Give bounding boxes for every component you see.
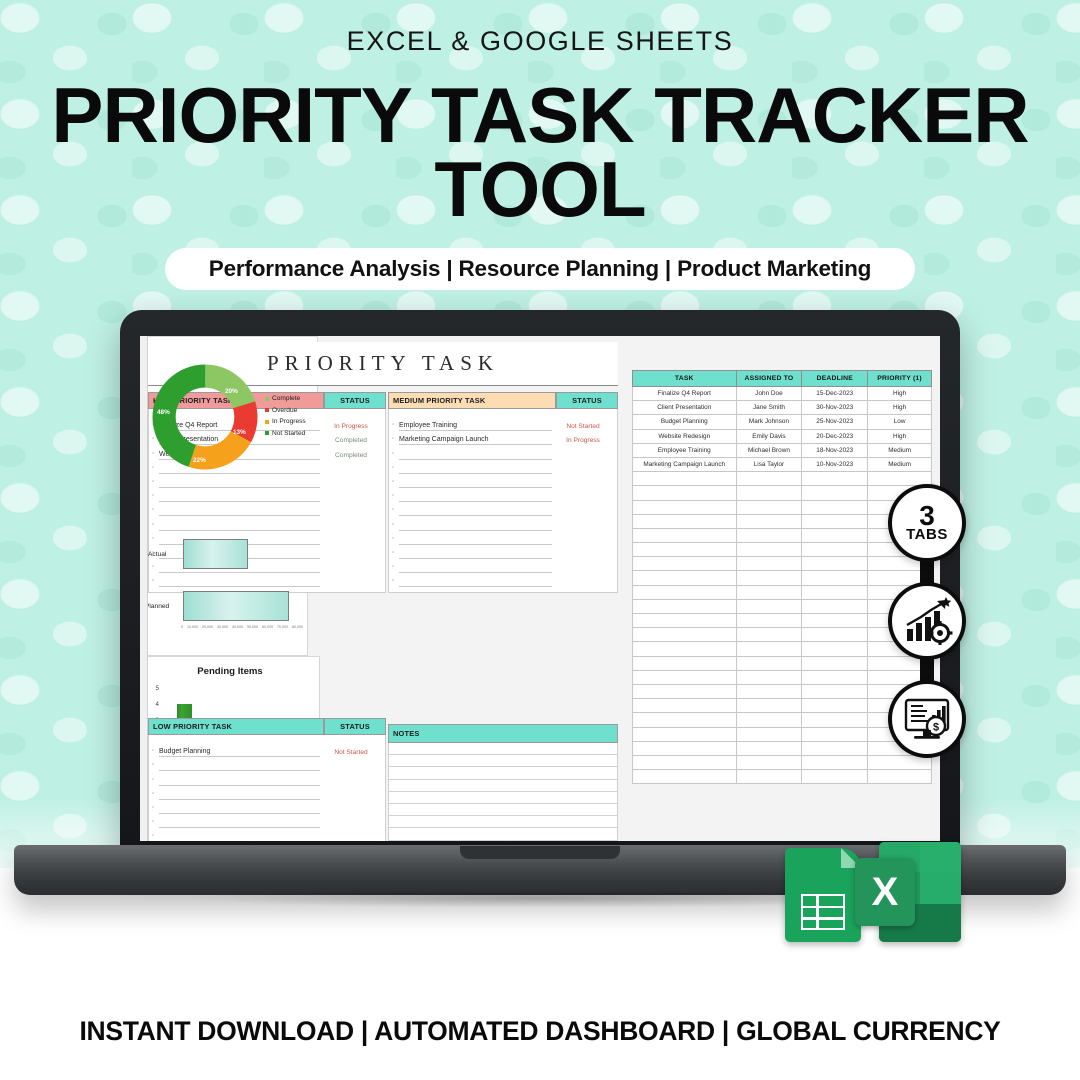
column-header-deadline[interactable]: DEADLINE: [802, 371, 868, 387]
bullet-icon: ▫: [392, 448, 399, 460]
cell-task: Finalize Q4 Report: [633, 387, 737, 401]
subtitle-text: Performance Analysis | Resource Planning…: [209, 256, 871, 282]
table-row[interactable]: [633, 770, 932, 784]
task-status: In Progress: [552, 437, 614, 445]
badge-monitor-dollar: $: [888, 680, 966, 758]
bullet-icon: ▫: [152, 504, 159, 516]
cell-priority: Medium: [868, 457, 932, 471]
table-row[interactable]: [633, 741, 932, 755]
table-row[interactable]: Website RedesignEmily Davis20-Dec-2023Hi…: [633, 429, 932, 443]
column-header-priority[interactable]: PRIORITY (1): [868, 371, 932, 387]
task-name: Budget Planning: [159, 748, 320, 757]
list-item[interactable]: ▫Employee TrainingNot Started: [389, 417, 617, 431]
cell-deadline: 20-Dec-2023: [802, 429, 868, 443]
bar-category-label: Planned: [145, 603, 169, 610]
table-row[interactable]: [633, 543, 932, 557]
list-item[interactable]: ▫: [389, 516, 617, 530]
footer-features: INSTANT DOWNLOAD | AUTOMATED DASHBOARD |…: [0, 1016, 1080, 1047]
table-header-row: TASK ASSIGNED TO DEADLINE PRIORITY (1): [633, 371, 932, 387]
donut-value-label: 13%: [233, 429, 246, 436]
medium-priority-status-header: STATUS: [556, 392, 618, 409]
table-row[interactable]: [633, 614, 932, 628]
table-row[interactable]: [633, 628, 932, 642]
list-item[interactable]: ▫: [389, 445, 617, 459]
subtitle-pill: Performance Analysis | Resource Planning…: [165, 248, 915, 290]
task-status: In Progress: [320, 423, 382, 431]
task-name: Marketing Campaign Launch: [399, 436, 552, 445]
table[interactable]: TASK ASSIGNED TO DEADLINE PRIORITY (1) F…: [632, 370, 932, 784]
legend-label: Not Started: [272, 428, 305, 440]
task-data-table[interactable]: TASK ASSIGNED TO DEADLINE PRIORITY (1) F…: [632, 370, 932, 784]
table-row[interactable]: [633, 670, 932, 684]
low-priority-header-row: LOW PRIORITY TASK STATUS: [148, 718, 386, 735]
bullet-icon: ▫: [152, 759, 159, 771]
list-item[interactable]: ▫Budget PlanningNot Started: [149, 743, 385, 757]
bullet-icon: ▫: [152, 802, 159, 814]
low-priority-block: LOW PRIORITY TASK STATUS ▫Budget Plannin…: [148, 718, 386, 841]
list-item[interactable]: ▫: [149, 814, 385, 828]
growth-chart-gear-icon: [901, 595, 953, 647]
low-priority-task-list[interactable]: ▫Budget PlanningNot Started ▫ ▫ ▫ ▫ ▫ ▫ …: [148, 735, 386, 841]
cell-deadline: 18-Nov-2023: [802, 443, 868, 457]
bar-planned: [183, 591, 289, 621]
bullet-icon: ▫: [392, 504, 399, 516]
legend-label: Overdue: [272, 405, 297, 417]
column-header-task[interactable]: TASK: [633, 371, 737, 387]
legend-item: In Progress: [265, 416, 306, 428]
list-item[interactable]: ▫: [389, 502, 617, 516]
table-row[interactable]: [633, 656, 932, 670]
chart-title: Pending Items: [141, 666, 319, 677]
donut-value-label: 48%: [157, 409, 170, 416]
file-format-logos: X: [785, 842, 985, 942]
cell-task: Marketing Campaign Launch: [633, 457, 737, 471]
list-item[interactable]: ▫Marketing Campaign LaunchIn Progress: [389, 431, 617, 445]
legend-swatch: [265, 408, 269, 412]
budget-chart: Budget Actual Planned 0 10,000 20,000 30…: [140, 496, 308, 656]
bullet-icon: ▫: [152, 476, 159, 488]
bullet-icon: ▫: [392, 561, 399, 573]
list-item[interactable]: ▫: [389, 545, 617, 559]
table-row[interactable]: [633, 500, 932, 514]
table-row[interactable]: [633, 713, 932, 727]
cell-assignee: Mark Johnson: [736, 415, 802, 429]
notes-header: NOTES: [388, 724, 618, 743]
cell-assignee: Jane Smith: [736, 401, 802, 415]
bullet-icon: ▫: [152, 490, 159, 502]
table-row[interactable]: Employee TrainingMichael Brown18-Nov-202…: [633, 443, 932, 457]
svg-text:$: $: [933, 722, 939, 734]
table-row[interactable]: Client PresentationJane Smith30-Nov-2023…: [633, 401, 932, 415]
column-header-assigned-to[interactable]: ASSIGNED TO: [736, 371, 802, 387]
notes-line[interactable]: [389, 755, 617, 767]
monitor-dollar-icon: $: [901, 693, 953, 745]
bar-actual: [183, 539, 248, 569]
table-row[interactable]: [633, 472, 932, 486]
high-priority-status-header: STATUS: [324, 392, 386, 409]
chart-legend: Complete Overdue In Progress Not Started: [265, 393, 306, 439]
task-status: Not Started: [552, 423, 614, 431]
row-gutter: [140, 336, 148, 841]
laptop-notch: [460, 846, 620, 859]
list-item[interactable]: ▫: [149, 488, 385, 502]
list-item[interactable]: ▫: [389, 488, 617, 502]
cell-deadline: 25-Nov-2023: [802, 415, 868, 429]
bullet-icon: ▫: [392, 490, 399, 502]
notes-line[interactable]: [389, 792, 617, 804]
eyebrow-text: EXCEL & GOOGLE SHEETS: [0, 26, 1080, 57]
notes-block: NOTES: [388, 724, 618, 841]
cell-assignee: Michael Brown: [736, 443, 802, 457]
list-item[interactable]: ▫: [149, 828, 385, 841]
table-row[interactable]: [633, 699, 932, 713]
bullet-icon: ▫: [392, 575, 399, 587]
medium-priority-block: MEDIUM PRIORITY TASK STATUS ▫Employee Tr…: [388, 392, 618, 593]
table-row[interactable]: [633, 514, 932, 528]
excel-x-tile: X: [855, 858, 915, 926]
list-item[interactable]: ▫: [389, 573, 617, 587]
list-item[interactable]: ▫: [149, 800, 385, 814]
cell-priority: High: [868, 429, 932, 443]
table-row[interactable]: [633, 642, 932, 656]
task-status: Completed: [320, 452, 382, 460]
bullet-icon: ▫: [152, 774, 159, 786]
badge-number: 3: [906, 504, 948, 528]
table-row[interactable]: [633, 557, 932, 571]
list-item[interactable]: ▫: [389, 531, 617, 545]
low-priority-header: LOW PRIORITY TASK: [148, 718, 324, 735]
table-row[interactable]: [633, 528, 932, 542]
bullet-icon: ▫: [392, 462, 399, 474]
list-item[interactable]: ▫: [149, 771, 385, 785]
table-row[interactable]: Finalize Q4 ReportJohn Doe15-Dec-2023Hig…: [633, 387, 932, 401]
donut-svg: [151, 363, 259, 471]
list-item[interactable]: ▫: [149, 757, 385, 771]
table-row[interactable]: [633, 486, 932, 500]
overall-task-status-chart: Overall Task Status 20% 13% 22% 48% Comp…: [140, 336, 318, 496]
cell-priority: High: [868, 401, 932, 415]
table-row[interactable]: [633, 727, 932, 741]
bullet-icon: ▫: [392, 519, 399, 531]
medium-priority-header-row: MEDIUM PRIORITY TASK STATUS: [388, 392, 618, 409]
cell-priority: Medium: [868, 443, 932, 457]
table-row[interactable]: [633, 585, 932, 599]
bullet-icon: ▫: [152, 745, 159, 757]
notes-line[interactable]: [389, 828, 617, 840]
notes-line[interactable]: [389, 767, 617, 779]
badge-growth-chart: [888, 582, 966, 660]
list-item[interactable]: ▫: [389, 460, 617, 474]
table-row[interactable]: [633, 599, 932, 613]
task-status: Completed: [320, 437, 382, 445]
legend-item: Overdue: [265, 405, 306, 417]
low-priority-status-header: STATUS: [324, 718, 386, 735]
bullet-icon: ▫: [392, 476, 399, 488]
legend-swatch: [265, 420, 269, 424]
budget-x-axis: 0 10,000 20,000 30,000 40,000 50,000 60,…: [181, 625, 303, 629]
cell-assignee: John Doe: [736, 387, 802, 401]
bullet-icon: ▫: [392, 433, 399, 445]
cell-deadline: 15-Dec-2023: [802, 387, 868, 401]
bullet-icon: ▫: [392, 533, 399, 545]
medium-priority-task-list[interactable]: ▫Employee TrainingNot Started ▫Marketing…: [388, 409, 618, 593]
legend-swatch: [265, 397, 269, 401]
cell-assignee: Emily Davis: [736, 429, 802, 443]
donut-value-label: 20%: [225, 388, 238, 395]
bullet-icon: ▫: [152, 830, 159, 841]
task-name: Employee Training: [399, 422, 552, 431]
notes-line[interactable]: [389, 804, 617, 816]
legend-swatch: [265, 431, 269, 435]
table-row[interactable]: [633, 571, 932, 585]
bullet-icon: ▫: [392, 419, 399, 431]
cell-task: Budget Planning: [633, 415, 737, 429]
cell-priority: Low: [868, 415, 932, 429]
cell-assignee: Lisa Taylor: [736, 457, 802, 471]
table-row[interactable]: Budget PlanningMark Johnson25-Nov-2023Lo…: [633, 415, 932, 429]
badge-tabs-count: 3 TABS: [888, 484, 966, 562]
task-status: Not Started: [320, 749, 382, 757]
list-item[interactable]: ▫: [149, 502, 385, 516]
list-item[interactable]: ▫: [149, 786, 385, 800]
badge-label: TABS: [906, 527, 948, 542]
cell-deadline: 10-Nov-2023: [802, 457, 868, 471]
bar-category-label: Actual: [148, 551, 166, 558]
sheets-grid-icon: [801, 894, 845, 930]
notes-header-row: NOTES: [388, 724, 618, 743]
spreadsheet-screen: PRIORITY TASK HIGH PRIORITY TASK STATUS …: [140, 336, 940, 841]
notes-line[interactable]: [389, 743, 617, 755]
notes-line[interactable]: [389, 816, 617, 828]
cell-task: Website Redesign: [633, 429, 737, 443]
page-title: PRIORITY TASK TRACKER TOOL: [40, 78, 1040, 226]
medium-priority-header: MEDIUM PRIORITY TASK: [388, 392, 556, 409]
legend-label: Complete: [272, 393, 300, 405]
list-item[interactable]: ▫: [389, 474, 617, 488]
cell-task: Client Presentation: [633, 401, 737, 415]
legend-item: Not Started: [265, 428, 306, 440]
table-row[interactable]: Marketing Campaign LaunchLisa Taylor10-N…: [633, 457, 932, 471]
table-row[interactable]: [633, 755, 932, 769]
notes-line[interactable]: [389, 780, 617, 792]
cell-deadline: 30-Nov-2023: [802, 401, 868, 415]
cell-priority: High: [868, 387, 932, 401]
legend-label: In Progress: [272, 416, 306, 428]
bullet-icon: ▫: [152, 788, 159, 800]
cell-task: Employee Training: [633, 443, 737, 457]
notes-area[interactable]: [388, 743, 618, 841]
legend-item: Complete: [265, 393, 306, 405]
bullet-icon: ▫: [392, 547, 399, 559]
bullet-icon: ▫: [152, 816, 159, 828]
excel-x-letter: X: [872, 872, 899, 912]
donut-value-label: 22%: [193, 457, 206, 464]
table-row[interactable]: [633, 684, 932, 698]
list-item[interactable]: ▫: [389, 559, 617, 573]
